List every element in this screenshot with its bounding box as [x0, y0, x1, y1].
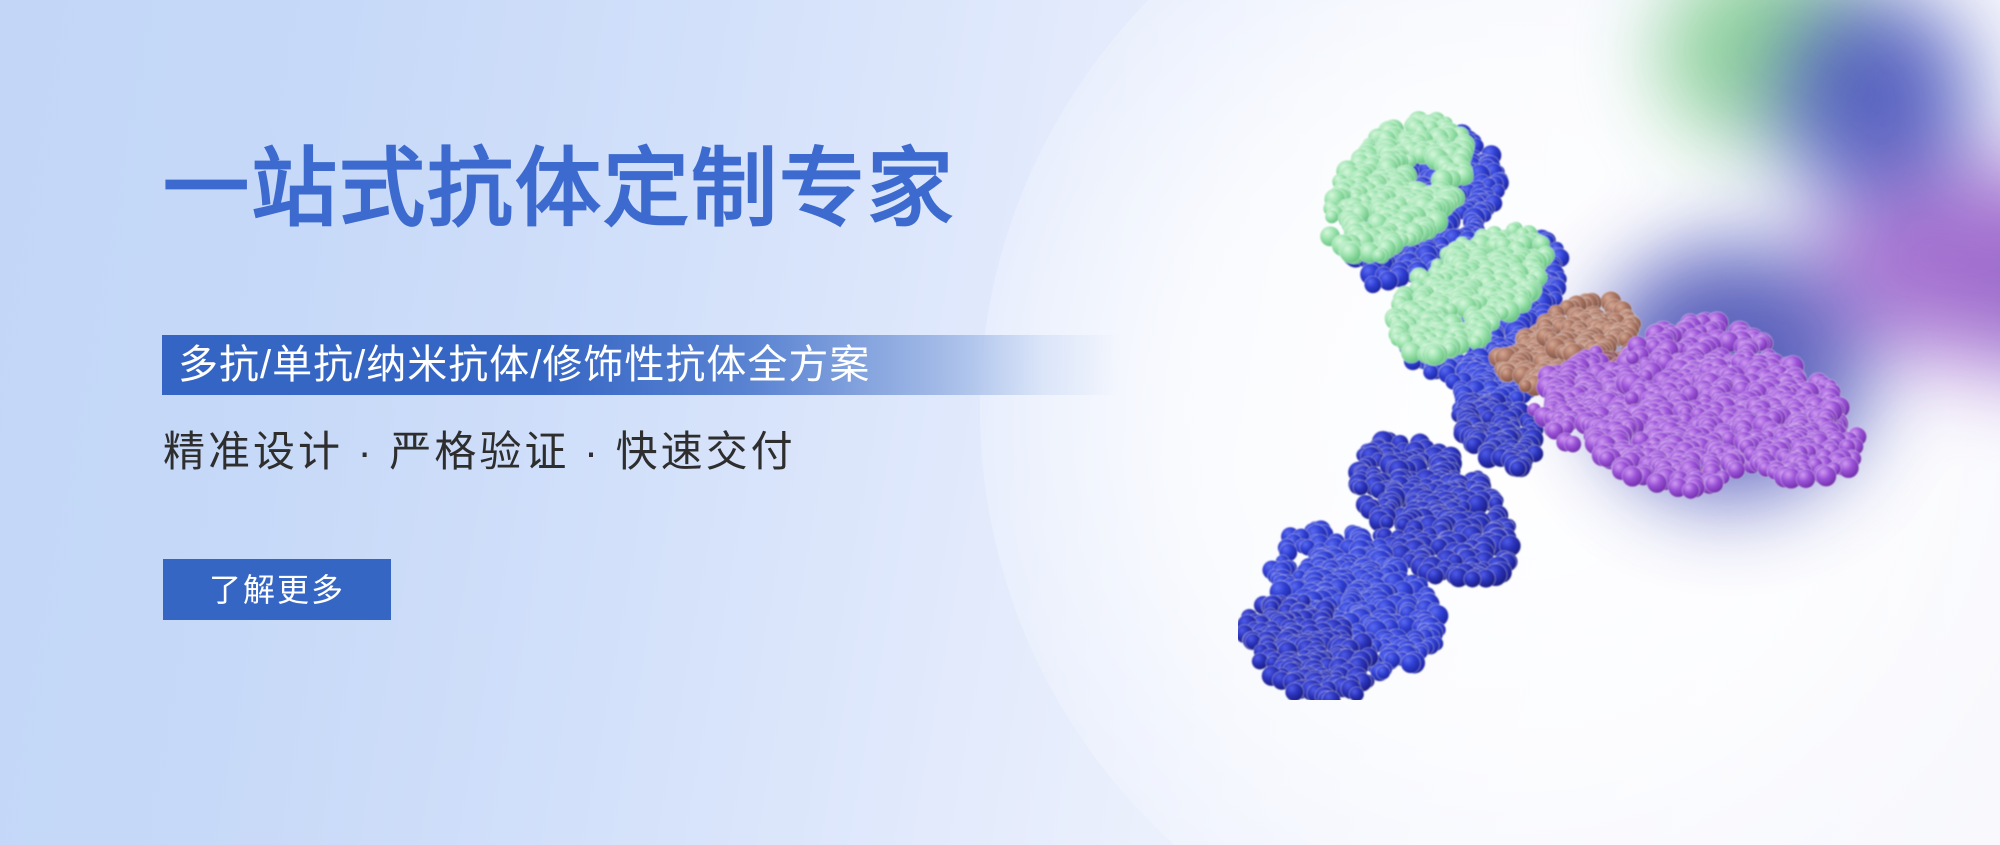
- hero-banner: 一站式抗体定制专家 多抗/单抗/纳米抗体/修饰性抗体全方案 精准设计 · 严格验…: [0, 0, 2000, 845]
- services-badge-label: 多抗/单抗/纳米抗体/修饰性抗体全方案: [162, 345, 870, 385]
- learn-more-button[interactable]: 了解更多: [163, 559, 391, 620]
- hero-content: 一站式抗体定制专家 多抗/单抗/纳米抗体/修饰性抗体全方案 精准设计 · 严格验…: [163, 0, 1163, 845]
- blur-blob-purple-2: [1940, 210, 2000, 420]
- services-badge: 多抗/单抗/纳米抗体/修饰性抗体全方案: [162, 335, 1120, 395]
- tagline: 精准设计 · 严格验证 · 快速交付: [163, 428, 796, 476]
- page-title: 一站式抗体定制专家: [163, 146, 955, 232]
- learn-more-label: 了解更多: [209, 574, 345, 606]
- antibody-3d-model: [1238, 60, 1898, 700]
